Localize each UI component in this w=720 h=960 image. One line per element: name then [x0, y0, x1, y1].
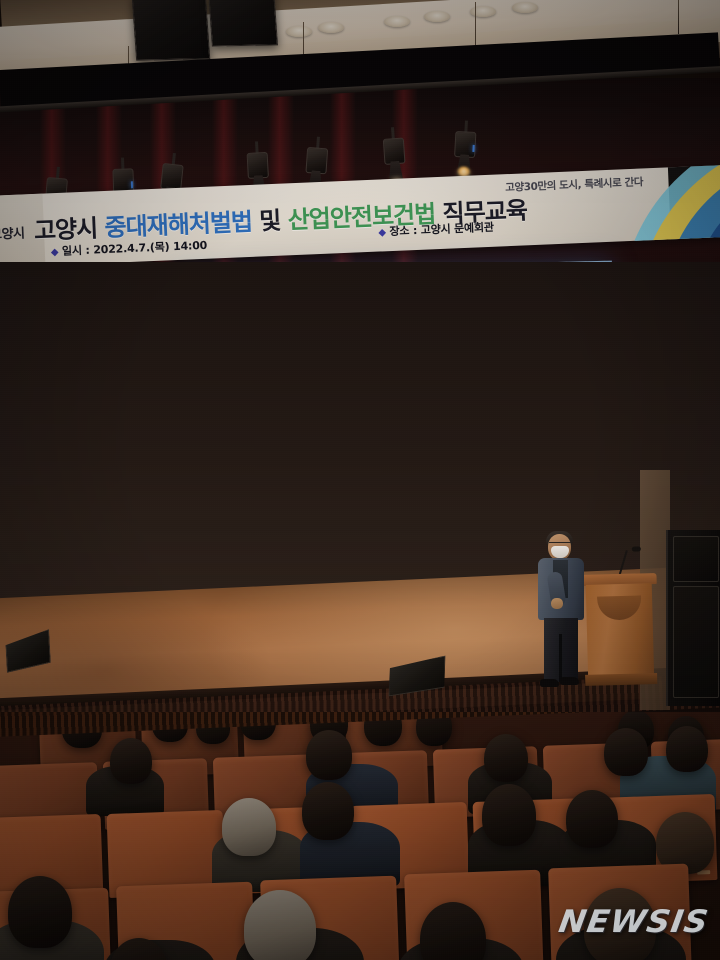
banner-title-part-2: 중대재해처벌법: [104, 208, 253, 242]
audience-head: [302, 782, 354, 840]
banner-title-part-1: 고양시: [33, 214, 97, 245]
audience-head: [222, 798, 276, 856]
audience-head: [8, 876, 72, 948]
audience-head: [306, 730, 352, 780]
audience-head: [482, 784, 536, 846]
stage-back-wall: [0, 262, 720, 622]
presenter-hand: [551, 598, 563, 609]
presenter-shoe-left: [540, 679, 559, 687]
microphone-icon: [632, 546, 641, 551]
diamond-bullet-icon: ◆: [378, 227, 386, 238]
presenter-leg-gap: [559, 634, 562, 682]
audience-head: [666, 726, 708, 772]
rack-panel: [673, 536, 719, 582]
audience-head: [244, 890, 316, 960]
light-hanging-rod: [678, 0, 679, 34]
ceiling-downlight: [470, 6, 496, 17]
ceiling-downlight: [512, 2, 538, 13]
banner-title: 고양시 중대재해처벌법 및 산업안전보건법 직무교육: [33, 190, 527, 246]
ceiling-downlight: [286, 26, 312, 37]
newsis-watermark: NEWSIS: [557, 904, 712, 940]
podium-base: [585, 673, 657, 686]
audience-head: [110, 738, 152, 784]
auditorium-photo: 고양시 고양30만의 도시, 특례시로 간다 고양시 중대재해처벌법 및 산업안…: [0, 0, 720, 960]
banner-place-label: 장소 :: [389, 224, 417, 238]
banner-city-tag: 고양시: [0, 222, 25, 242]
ceiling-downlight: [424, 11, 450, 22]
ceiling-downlight: [318, 22, 344, 33]
banner-place-line: ◆ 장소 : 고양시 문예회관: [378, 219, 494, 240]
audience-head: [484, 734, 528, 782]
hanging-speaker-icon: [132, 0, 211, 61]
audience-head: [566, 790, 618, 848]
banner-place-value: 고양시 문예회관: [420, 221, 494, 237]
ceiling-downlight: [384, 16, 410, 27]
banner-date-value: 2022.4.7.(목) 14:00: [93, 239, 207, 257]
presenter: [538, 534, 588, 690]
banner-title-part-3: 및: [259, 207, 281, 236]
equipment-rack: [666, 530, 720, 706]
diamond-bullet-icon: ◆: [51, 247, 59, 258]
presenter-shoe-right: [560, 677, 579, 685]
hanging-speaker-icon: [208, 0, 278, 47]
podium: [582, 573, 657, 693]
rack-panel: [673, 586, 719, 698]
audience-head: [604, 728, 648, 776]
banner-date-label: 일시 :: [62, 244, 90, 258]
